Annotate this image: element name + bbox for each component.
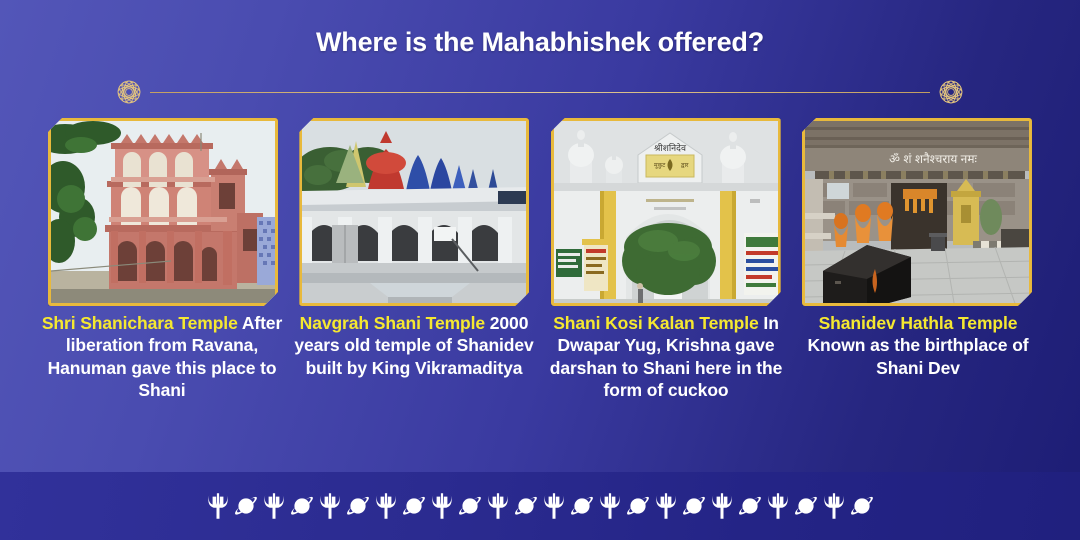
saturn-icon bbox=[513, 492, 539, 520]
trishul-icon bbox=[317, 492, 343, 520]
infographic-poster: Where is the Mahabhishek offered? bbox=[0, 0, 1080, 540]
saturn-icon bbox=[401, 492, 427, 520]
trishul-icon bbox=[429, 492, 455, 520]
caption-temple-name: Shanidev Hathla Temple bbox=[819, 313, 1018, 333]
floral-medallion-icon-left bbox=[110, 73, 148, 111]
saturn-icon bbox=[849, 492, 875, 520]
trishul-icon bbox=[485, 492, 511, 520]
temple-photo-3: श्रीशनिदेव मुकुट द्वार bbox=[554, 121, 778, 303]
caption-temple-name: Shri Shanichara Temple bbox=[42, 313, 238, 333]
caption-shanidev-hathla: Shanidev Hathla Temple Known as the birt… bbox=[796, 312, 1040, 462]
caption-shri-shanichara: Shri Shanichara Temple After liberation … bbox=[40, 312, 284, 462]
trishul-icon bbox=[541, 492, 567, 520]
temple-photo-1 bbox=[51, 121, 275, 303]
caption-temple-name: Shani Kosi Kalan Temple bbox=[553, 313, 758, 333]
footer-symbol-row bbox=[205, 492, 875, 520]
saturn-icon bbox=[681, 492, 707, 520]
page-title: Where is the Mahabhishek offered? bbox=[0, 27, 1080, 58]
temple-card-shanidev-hathla[interactable]: ॐ शं शनैश्चराय नमः bbox=[802, 118, 1032, 306]
trishul-icon bbox=[261, 492, 287, 520]
saturn-icon bbox=[289, 492, 315, 520]
caption-temple-description: Known as the birthplace of Shani Dev bbox=[807, 335, 1028, 377]
photo-text-pediment: श्रीशनिदेव bbox=[654, 142, 687, 153]
photo-text-lintel: ॐ शं शनैश्चराय नमः bbox=[889, 152, 977, 166]
saturn-icon bbox=[625, 492, 651, 520]
saturn-icon bbox=[737, 492, 763, 520]
temple-image-row: श्रीशनिदेव मुकुट द्वार bbox=[48, 118, 1032, 308]
temple-photo-4: ॐ शं शनैश्चराय नमः bbox=[805, 121, 1029, 303]
trishul-icon bbox=[653, 492, 679, 520]
trishul-icon bbox=[597, 492, 623, 520]
trishul-icon bbox=[709, 492, 735, 520]
temple-card-shri-shanichara[interactable] bbox=[48, 118, 278, 306]
trishul-icon bbox=[821, 492, 847, 520]
temple-photo-2 bbox=[302, 121, 526, 303]
temple-card-shani-kosi-kalan[interactable]: श्रीशनिदेव मुकुट द्वार bbox=[551, 118, 781, 306]
temple-caption-row: Shri Shanichara Temple After liberation … bbox=[40, 312, 1040, 462]
trishul-icon bbox=[765, 492, 791, 520]
saturn-icon bbox=[793, 492, 819, 520]
saturn-icon bbox=[457, 492, 483, 520]
saturn-icon bbox=[345, 492, 371, 520]
saturn-icon bbox=[233, 492, 259, 520]
caption-navgrah-shani: Navgrah Shani Temple 2000 years old temp… bbox=[292, 312, 536, 462]
caption-temple-name: Navgrah Shani Temple bbox=[300, 313, 485, 333]
caption-shani-kosi-kalan: Shani Kosi Kalan Temple In Dwapar Yug, K… bbox=[544, 312, 788, 462]
photo-text-plaque-left: मुकुट bbox=[654, 163, 666, 169]
ornamental-divider bbox=[110, 73, 970, 111]
footer-symbol-band bbox=[0, 472, 1080, 540]
temple-card-navgrah-shani[interactable] bbox=[299, 118, 529, 306]
trishul-icon bbox=[373, 492, 399, 520]
divider-rule bbox=[150, 92, 930, 93]
photo-text-plaque-right: द्वार bbox=[681, 163, 689, 169]
saturn-icon bbox=[569, 492, 595, 520]
floral-medallion-icon-right bbox=[932, 73, 970, 111]
trishul-icon bbox=[205, 492, 231, 520]
